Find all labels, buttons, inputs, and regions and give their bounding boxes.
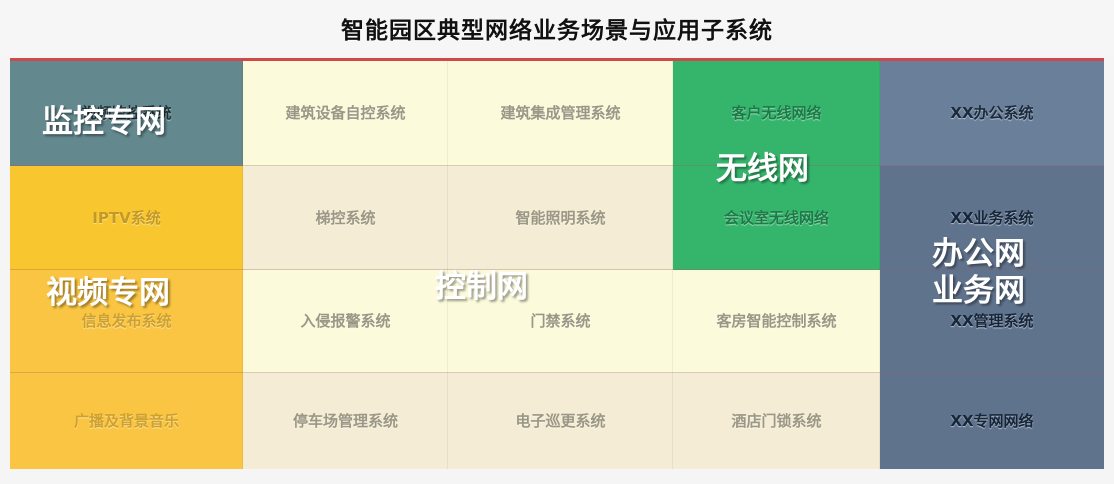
title-bar: 智能园区典型网络业务场景与应用子系统 xyxy=(0,0,1114,56)
cell-r3c4[interactable]: 客房智能控制系统 xyxy=(673,270,880,373)
cell-r1c5[interactable]: XX办公系统 xyxy=(880,61,1104,166)
col-divider-1 xyxy=(242,61,243,469)
cell-label: XX业务系统 xyxy=(950,209,1033,228)
col-divider-3 xyxy=(672,61,673,469)
cell-label: 信息发布系统 xyxy=(81,312,171,331)
cell-r2c3[interactable]: 智能照明系统 xyxy=(448,166,673,270)
cell-label: 酒店门锁系统 xyxy=(731,412,821,431)
cell-r3c5[interactable]: XX管理系统 xyxy=(880,270,1104,373)
cell-r4c3[interactable]: 电子巡更系统 xyxy=(448,373,673,469)
cell-label: XX管理系统 xyxy=(950,312,1033,331)
cell-r4c2[interactable]: 停车场管理系统 xyxy=(243,373,448,469)
cell-label: 客户无线网络 xyxy=(731,104,821,123)
cell-r1c1[interactable]: 视频监控系统 xyxy=(10,61,243,166)
cell-r1c3[interactable]: 建筑集成管理系统 xyxy=(448,61,673,166)
cell-r3c1[interactable]: 信息发布系统 xyxy=(10,270,243,373)
page-title: 智能园区典型网络业务场景与应用子系统 xyxy=(341,11,773,45)
network-scenario-matrix: 视频监控系统 建筑设备自控系统 建筑集成管理系统 客户无线网络 XX办公系统 I… xyxy=(10,58,1104,466)
cell-r3c3[interactable]: 门禁系统 xyxy=(448,270,673,373)
cell-label: 客房智能控制系统 xyxy=(716,312,836,331)
cell-r1c4[interactable]: 客户无线网络 xyxy=(673,61,880,166)
cell-r2c4[interactable]: 会议室无线网络 xyxy=(673,166,880,270)
cell-r4c4[interactable]: 酒店门锁系统 xyxy=(673,373,880,469)
cell-r4c5[interactable]: XX专网网络 xyxy=(880,373,1104,469)
cell-label: 建筑设备自控系统 xyxy=(285,104,405,123)
cell-label: 停车场管理系统 xyxy=(293,412,398,431)
cell-label: IPTV系统 xyxy=(92,209,160,228)
cell-r4c1[interactable]: 广播及背景音乐 xyxy=(10,373,243,469)
cell-r2c2[interactable]: 梯控系统 xyxy=(243,166,448,270)
cell-label: 智能照明系统 xyxy=(515,209,605,228)
cell-label: 入侵报警系统 xyxy=(300,312,390,331)
cell-r1c2[interactable]: 建筑设备自控系统 xyxy=(243,61,448,166)
cell-label: 建筑集成管理系统 xyxy=(500,104,620,123)
col-divider-4 xyxy=(879,61,880,469)
row-divider-1 xyxy=(10,165,1104,166)
cell-label: 梯控系统 xyxy=(315,209,375,228)
cell-label: 广播及背景音乐 xyxy=(74,412,179,431)
cell-label: 视频监控系统 xyxy=(81,104,171,123)
cell-r2c1[interactable]: IPTV系统 xyxy=(10,166,243,270)
row-divider-3 xyxy=(10,372,1104,373)
cell-r2c5[interactable]: XX业务系统 xyxy=(880,166,1104,270)
cell-r3c2[interactable]: 入侵报警系统 xyxy=(243,270,448,373)
row-divider-2 xyxy=(10,269,1104,270)
col-divider-2 xyxy=(447,61,448,469)
cell-label: XX办公系统 xyxy=(950,104,1033,123)
cell-label: XX专网网络 xyxy=(950,412,1033,431)
cell-label: 电子巡更系统 xyxy=(515,412,605,431)
cell-label: 会议室无线网络 xyxy=(724,209,829,228)
cell-label: 门禁系统 xyxy=(530,312,590,331)
